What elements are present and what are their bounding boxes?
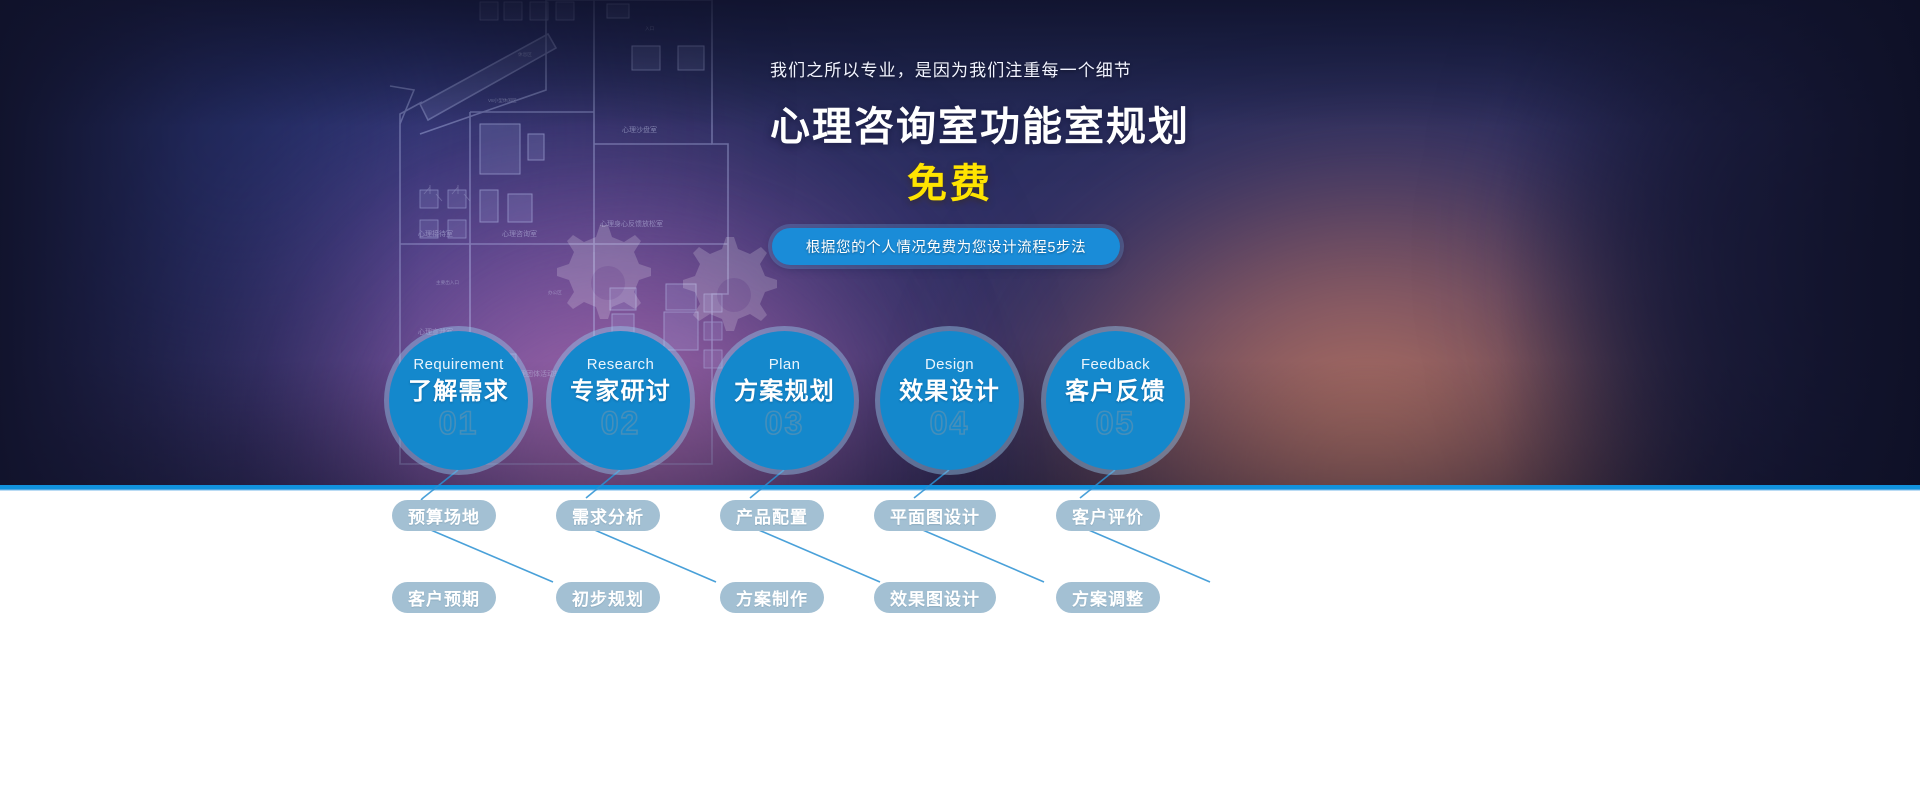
sub-pill-top-3[interactable]: 产品配置 (720, 500, 824, 531)
sub-pill-bottom-5[interactable]: 方案调整 (1056, 582, 1160, 613)
step-number: 02 (601, 407, 641, 439)
sub-pill-label: 初步规划 (572, 585, 644, 610)
sub-pill-label: 客户预期 (408, 585, 480, 610)
sub-pill-label: 客户评价 (1072, 503, 1144, 528)
sub-pill-top-5[interactable]: 客户评价 (1056, 500, 1160, 531)
sub-pill-label: 效果图设计 (890, 585, 980, 610)
sub-pill-label: 需求分析 (572, 503, 644, 528)
step-en-label: Plan (769, 357, 801, 372)
step-cn-label: 了解需求 (408, 379, 509, 404)
step-circle-4[interactable]: Design 效果设计 04 (880, 331, 1019, 470)
sub-pill-label: 方案制作 (736, 585, 808, 610)
sub-pill-top-1[interactable]: 预算场地 (392, 500, 496, 531)
step-en-label: Requirement (413, 357, 503, 372)
step-en-label: Research (587, 357, 654, 372)
sub-pill-bottom-2[interactable]: 初步规划 (556, 582, 660, 613)
sub-pill-bottom-4[interactable]: 效果图设计 (874, 582, 996, 613)
step-circle-5[interactable]: Feedback 客户反馈 05 (1046, 331, 1185, 470)
sub-pill-top-2[interactable]: 需求分析 (556, 500, 660, 531)
step-cn-label: 效果设计 (899, 379, 1000, 404)
sub-pill-label: 产品配置 (736, 503, 808, 528)
sub-pill-label: 方案调整 (1072, 585, 1144, 610)
step-number: 03 (765, 407, 805, 439)
step-en-label: Design (925, 357, 974, 372)
step-cn-label: 客户反馈 (1065, 379, 1166, 404)
sub-pill-label: 预算场地 (408, 503, 480, 528)
step-number: 05 (1096, 407, 1136, 439)
step-number: 01 (439, 407, 479, 439)
step-en-label: Feedback (1081, 357, 1150, 372)
step-circle-2[interactable]: Research 专家研讨 02 (551, 331, 690, 470)
sub-pill-bottom-3[interactable]: 方案制作 (720, 582, 824, 613)
step-circle-3[interactable]: Plan 方案规划 03 (715, 331, 854, 470)
sub-pill-label: 平面图设计 (890, 503, 980, 528)
sub-pill-top-4[interactable]: 平面图设计 (874, 500, 996, 531)
process-steps: Requirement 了解需求 01 预算场地 客户预期 Research 专… (0, 0, 1920, 810)
step-number: 04 (930, 407, 970, 439)
banner-stage: 心理接待室 心理咨询室 心理沙盘室 心理身心反馈放松室 心理宣泄室 心理团体活动… (0, 0, 1920, 810)
step-cn-label: 专家研讨 (570, 379, 671, 404)
step-circle-1[interactable]: Requirement 了解需求 01 (389, 331, 528, 470)
sub-pill-bottom-1[interactable]: 客户预期 (392, 582, 496, 613)
step-cn-label: 方案规划 (734, 379, 835, 404)
